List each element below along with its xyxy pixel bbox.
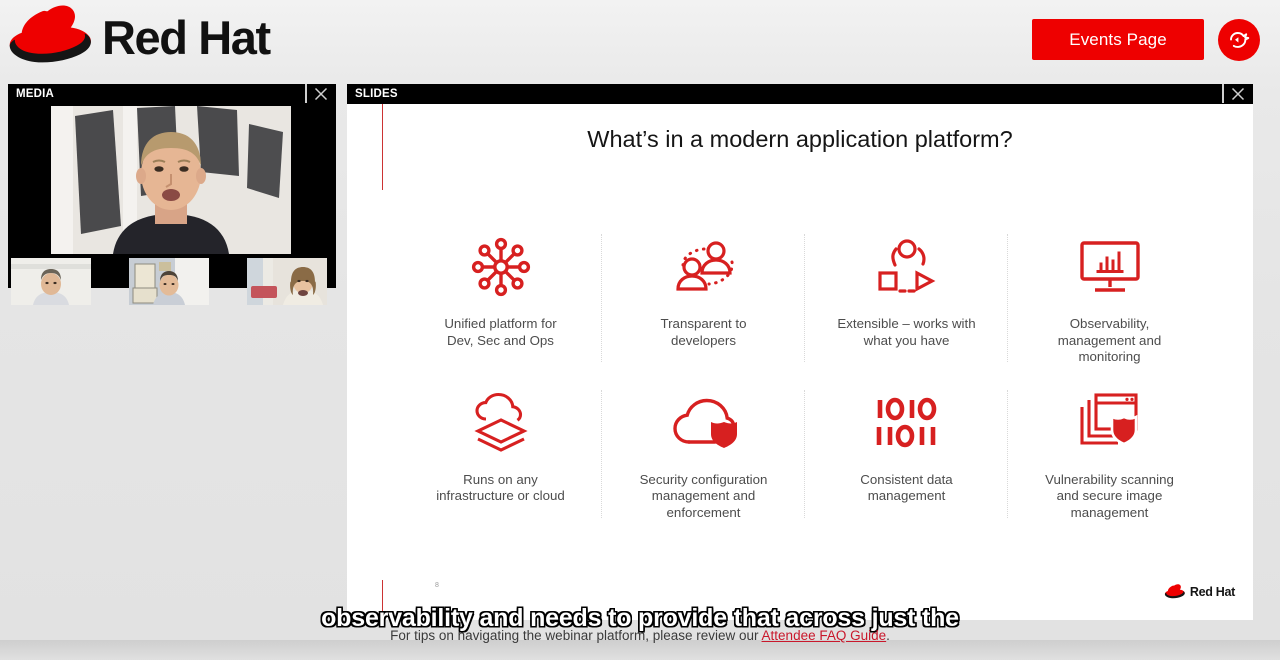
feature-caption: Transparent todevelopers xyxy=(661,316,747,349)
feature-caption: Security configurationmanagement andenfo… xyxy=(640,472,768,522)
participant-1-video xyxy=(11,258,91,305)
participant-thumbnail[interactable] xyxy=(11,258,91,305)
slide-number: 8 xyxy=(435,582,439,589)
windows-shield-icon xyxy=(1076,386,1144,460)
footer-text-after: . xyxy=(886,628,890,643)
participant-3-video xyxy=(247,258,327,305)
feature-cell: Vulnerability scanningand secure imagema… xyxy=(1008,386,1211,522)
slides-panel-titlebar: SLIDES xyxy=(347,84,1253,104)
media-panel-body xyxy=(8,104,336,288)
participant-2-video xyxy=(129,258,209,305)
slide-canvas: What’s in a modern application platform? xyxy=(347,104,1253,620)
media-close-icon[interactable] xyxy=(314,87,328,101)
feature-caption: Vulnerability scanningand secure imagema… xyxy=(1045,472,1174,522)
slide-accent-line-bottom xyxy=(382,580,383,620)
people-collaboration-icon xyxy=(670,230,738,304)
megaphone-glyph xyxy=(1226,27,1252,53)
footer-tip-bar: For tips on navigating the webinar platf… xyxy=(0,628,1280,660)
media-panel: MEDIA xyxy=(8,84,336,288)
red-hat-fedora-icon-small xyxy=(1164,584,1186,600)
cloud-layers-icon xyxy=(470,386,532,460)
shapes-extensible-icon xyxy=(874,230,940,304)
feature-grid: Unified platform forDev, Sec and Ops xyxy=(399,230,1211,522)
monitor-chart-icon xyxy=(1077,230,1143,304)
participant-thumbnail[interactable] xyxy=(247,258,327,305)
red-hat-fedora-icon xyxy=(8,4,94,70)
feature-caption: Unified platform forDev, Sec and Ops xyxy=(444,316,556,349)
slides-close-icon[interactable] xyxy=(1231,87,1245,101)
events-page-button[interactable]: Events Page xyxy=(1032,19,1204,60)
top-header-bar: Red Hat Events Page xyxy=(0,0,1280,80)
feature-cell: Runs on anyinfrastructure or cloud xyxy=(399,386,602,522)
slide-red-hat-logo: Red Hat xyxy=(1164,584,1235,600)
footer-text-before: For tips on navigating the webinar platf… xyxy=(390,628,761,643)
cloud-shield-icon xyxy=(669,386,739,460)
red-hat-logo: Red Hat xyxy=(8,4,270,70)
feature-cell: Unified platform forDev, Sec and Ops xyxy=(399,230,602,366)
main-speaker-video[interactable] xyxy=(51,106,291,254)
network-hub-icon xyxy=(470,230,532,304)
slide-logo-wordmark: Red Hat xyxy=(1190,585,1235,599)
megaphone-icon[interactable] xyxy=(1218,19,1260,61)
attendee-faq-guide-link[interactable]: Attendee FAQ Guide xyxy=(762,628,887,643)
participant-thumbnail-strip xyxy=(11,258,333,305)
participant-thumbnail[interactable] xyxy=(129,258,209,305)
feature-cell: Observability,management andmonitoring xyxy=(1008,230,1211,366)
feature-caption: Runs on anyinfrastructure or cloud xyxy=(436,472,565,505)
feature-cell: Consistent datamanagement xyxy=(805,386,1008,522)
slide-title: What’s in a modern application platform? xyxy=(347,126,1253,153)
binary-data-icon xyxy=(874,386,940,460)
feature-cell: Transparent todevelopers xyxy=(602,230,805,366)
feature-caption: Observability,management andmonitoring xyxy=(1058,316,1162,366)
slides-panel-title: SLIDES xyxy=(355,88,398,100)
media-panel-title: MEDIA xyxy=(16,88,54,100)
speaker-video-frame xyxy=(51,106,291,254)
brand-wordmark: Red Hat xyxy=(102,14,270,61)
feature-cell: Security configurationmanagement andenfo… xyxy=(602,386,805,522)
slides-panel: SLIDES What’s in a modern application pl… xyxy=(347,84,1253,620)
feature-caption: Extensible – works withwhat you have xyxy=(837,316,975,349)
media-panel-titlebar: MEDIA xyxy=(8,84,336,104)
feature-caption: Consistent datamanagement xyxy=(860,472,952,505)
feature-cell: Extensible – works withwhat you have xyxy=(805,230,1008,366)
